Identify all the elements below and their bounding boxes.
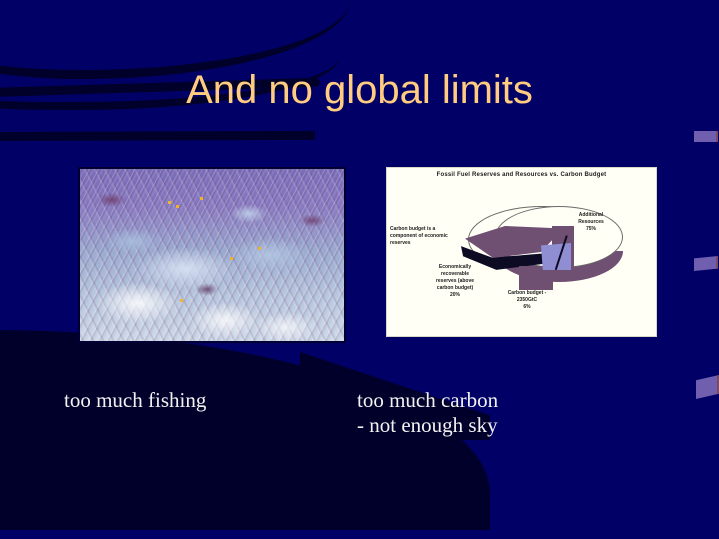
page-title: And no global limits xyxy=(0,68,719,113)
additional-value: 75% xyxy=(561,226,621,233)
caption-carbon-line-1: too much carbon xyxy=(357,388,498,413)
caption-carbon-line-2: - not enough sky xyxy=(357,413,498,438)
decor-stripe-4 xyxy=(0,131,315,141)
photo-speck xyxy=(176,205,179,208)
annotation-line-2: component of economic xyxy=(390,233,460,240)
decor-edge-mark-3 xyxy=(696,375,719,399)
caption-too-much-carbon: too much carbon - not enough sky xyxy=(357,388,498,438)
chart-annotation-carbon-component: Carbon budget is a component of economic… xyxy=(390,226,460,247)
decor-edge-mark-1 xyxy=(694,131,718,142)
chart-label-additional-resources: Additional Resources 75% xyxy=(561,212,621,233)
photo-speck xyxy=(200,197,203,200)
budget-line-1: Carbon budget - xyxy=(487,290,567,297)
economic-line-1: Economically xyxy=(419,264,491,271)
additional-line-2: Resources xyxy=(561,219,621,226)
slide: And no global limits Fossil Fuel Reserve… xyxy=(0,0,719,539)
economic-line-2: recoverable xyxy=(419,271,491,278)
budget-value: 6% xyxy=(487,304,567,311)
economic-value: 20% xyxy=(419,292,491,299)
budget-line-2: 2350GtC xyxy=(487,297,567,304)
economic-line-3: reserves (above xyxy=(419,278,491,285)
annotation-line-1: Carbon budget is a xyxy=(390,226,460,233)
decor-edge-mark-2 xyxy=(694,256,718,271)
photo-speck xyxy=(180,299,183,302)
additional-line-1: Additional xyxy=(561,212,621,219)
caption-too-much-fishing: too much fishing xyxy=(64,388,206,413)
photo-speck xyxy=(258,247,261,250)
photo-speck xyxy=(230,257,233,260)
chart-label-carbon-budget: Carbon budget - 2350GtC 6% xyxy=(487,290,567,311)
chart-title: Fossil Fuel Reserves and Resources vs. C… xyxy=(387,172,656,178)
pie-chart-panel: Fossil Fuel Reserves and Resources vs. C… xyxy=(386,167,657,337)
satellite-ocean-image xyxy=(78,167,346,343)
economic-line-4: carbon budget) xyxy=(419,285,491,292)
photo-speck xyxy=(168,201,171,204)
annotation-line-3: reserves xyxy=(390,240,460,247)
chart-label-economic-reserves: Economically recoverable reserves (above… xyxy=(419,264,491,299)
